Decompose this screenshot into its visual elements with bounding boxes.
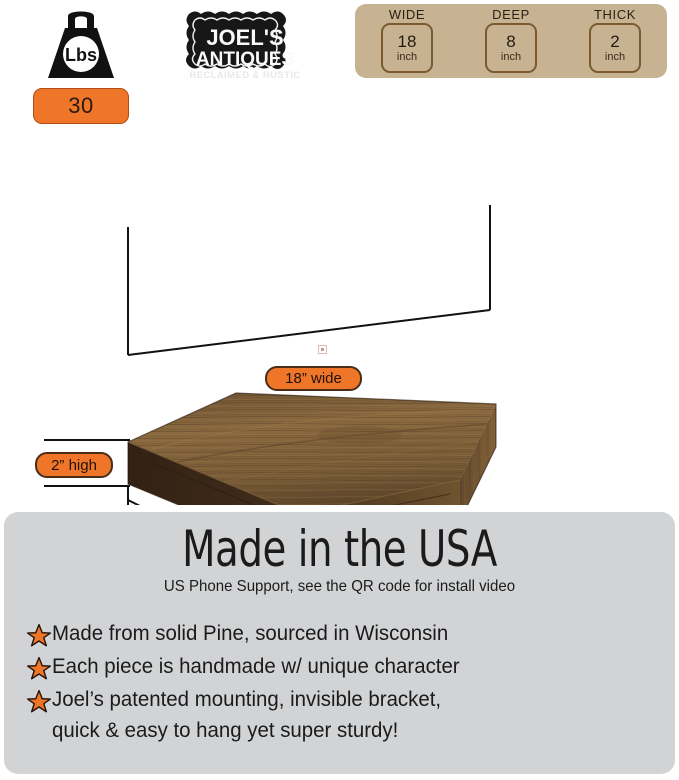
dimension-thick: THICK 2 inch <box>569 8 661 73</box>
info-panel: Made in the USA US Phone Support, see th… <box>4 512 675 774</box>
dimension-deep: DEEP 8 inch <box>465 8 557 73</box>
dimension-deep-box: 8 inch <box>485 23 537 73</box>
logo-line-3: RECLAIMED & RUSTIC <box>189 70 300 81</box>
dimension-wide-title: WIDE <box>361 8 453 22</box>
list-item: Made from solid Pine, sourced in Wiscons… <box>26 618 675 649</box>
list-item: Each piece is handmade w/ unique charact… <box>26 651 675 682</box>
star-bullet-icon <box>26 689 52 715</box>
shelf-board <box>120 388 510 505</box>
page-subtitle: US Phone Support, see the QR code for in… <box>24 578 655 596</box>
logo-line-2: ANTIQUES <box>196 49 294 70</box>
joels-antiques-logo: JOEL'S ANTIQUES RECLAIMED & RUSTIC <box>175 8 315 92</box>
feature-list: Made from solid Pine, sourced in Wiscons… <box>4 618 675 746</box>
weight-capacity-badge: 30 <box>33 88 129 124</box>
callout-width: 18” wide <box>265 366 362 391</box>
dimension-thick-unit: inch <box>605 51 625 63</box>
callout-width-label: 18” wide <box>285 370 342 387</box>
weight-capacity-value: 30 <box>68 93 93 119</box>
list-item: Joel’s patented mounting, invisible brac… <box>26 684 675 746</box>
page-title: Made in the USA <box>51 522 628 576</box>
callout-height: 2” high <box>35 452 113 478</box>
feature-text: Each piece is handmade w/ unique charact… <box>52 651 460 682</box>
product-stage: 18” wide 2” high 8” deep <box>0 150 679 505</box>
star-bullet-icon <box>26 623 52 649</box>
star-bullet-icon <box>26 656 52 682</box>
dimension-deep-value: 8 <box>506 33 515 51</box>
dimensions-panel: WIDE 18 inch DEEP 8 inch THICK 2 inch <box>355 4 667 78</box>
dimension-wide: WIDE 18 inch <box>361 8 453 73</box>
dimension-thick-title: THICK <box>569 8 661 22</box>
logo-line-1: JOEL'S <box>206 25 283 50</box>
feature-text: Joel’s patented mounting, invisible brac… <box>52 684 441 746</box>
svg-text:Lbs: Lbs <box>65 45 97 65</box>
crop-corner-marker-icon <box>318 345 327 354</box>
weight-lbs-icon: Lbs <box>38 8 124 82</box>
dimension-wide-unit: inch <box>397 51 417 63</box>
callout-height-label: 2” high <box>51 457 97 474</box>
dimension-wide-box: 18 inch <box>381 23 433 73</box>
feature-text: Made from solid Pine, sourced in Wiscons… <box>52 618 448 649</box>
dimension-wide-value: 18 <box>398 33 417 51</box>
weight-capacity-block: Lbs 30 <box>30 8 132 124</box>
dimension-deep-unit: inch <box>501 51 521 63</box>
dimension-thick-value: 2 <box>610 33 619 51</box>
header-bar: Lbs 30 JOEL'S ANTIQUES RECLAIMED & RUSTI… <box>0 0 679 150</box>
dimension-thick-box: 2 inch <box>589 23 641 73</box>
dimension-deep-title: DEEP <box>465 8 557 22</box>
